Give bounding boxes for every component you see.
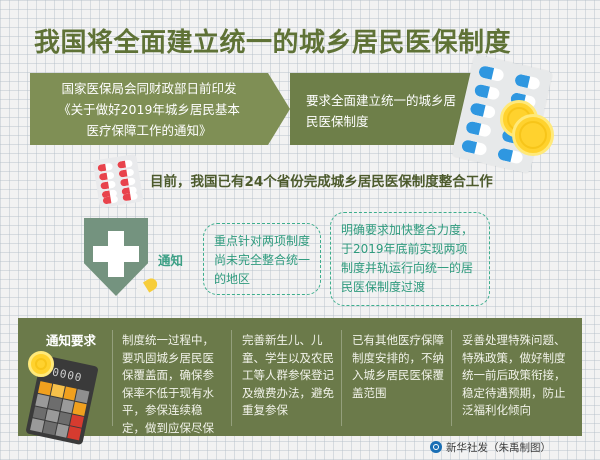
- panel-divider: [341, 330, 342, 426]
- requirement-column-4: 妥善处理特殊问题、特殊政策，做好制度统一前后政策衔接，稳定待遇预期，防止泛福利化…: [462, 332, 566, 420]
- requirement-column-3: 已有其他医疗保障制度安排的，不纳入城乡居民医保覆盖范围: [352, 332, 444, 402]
- gold-coin-icon: [28, 351, 54, 377]
- notice-detail-box-1: 重点针对两项制度尚未完全整合统一的地区: [203, 223, 321, 295]
- arrow-head-shape: [268, 73, 290, 145]
- notice-detail-box-2: 明确要求加快整合力度，于2019年底前实现两项制度并轨运行向统一的居民医保制度过…: [330, 212, 490, 306]
- requirement-column-1: 制度统一过程中，要巩固城乡居民医保覆盖面，确保参保率不低于现有水平，参保连续稳定…: [122, 332, 222, 437]
- requirement-column-2: 完善新生儿、儿童、学生以及农民工等人群参保登记及缴费办法，避免重复参保: [242, 332, 334, 420]
- panel-divider: [231, 330, 232, 426]
- xinhua-logo-icon: [430, 441, 442, 453]
- policy-source-line-3: 医疗保障工作的通知》: [30, 120, 268, 141]
- source-credit: 新华社发（朱禹制图）: [430, 440, 551, 455]
- panel-divider: [451, 330, 452, 426]
- gold-coin-icon: [512, 114, 554, 156]
- requirements-heading: 通知要求: [46, 330, 96, 349]
- policy-source-line-2: 《关于做好2019年城乡居民基本: [30, 99, 268, 120]
- policy-source-line-1: 国家医保局会同财政部日前印发: [30, 78, 268, 99]
- gold-capsule-icon: [134, 276, 159, 298]
- page-title: 我国将全面建立统一的城乡居民医保制度: [34, 22, 574, 59]
- policy-source-arrow-box: 国家医保局会同财政部日前印发 《关于做好2019年城乡居民基本 医疗保障工作的通…: [30, 73, 268, 145]
- source-credit-text: 新华社发（朱禹制图）: [446, 442, 551, 454]
- infographic-canvas: 我国将全面建立统一的城乡居民医保制度 国家医保局会同财政部日前印发 《关于做好2…: [0, 0, 600, 460]
- red-capsule-blister-pack-icon: [93, 154, 144, 208]
- panel-divider: [112, 330, 113, 426]
- notice-label: 通知: [158, 250, 183, 269]
- progress-statement: 目前，我国已有24个省份完成城乡居民医保制度整合工作: [150, 170, 493, 190]
- policy-goal-text: 要求全面建立统一的城乡居民医保制度: [306, 90, 466, 132]
